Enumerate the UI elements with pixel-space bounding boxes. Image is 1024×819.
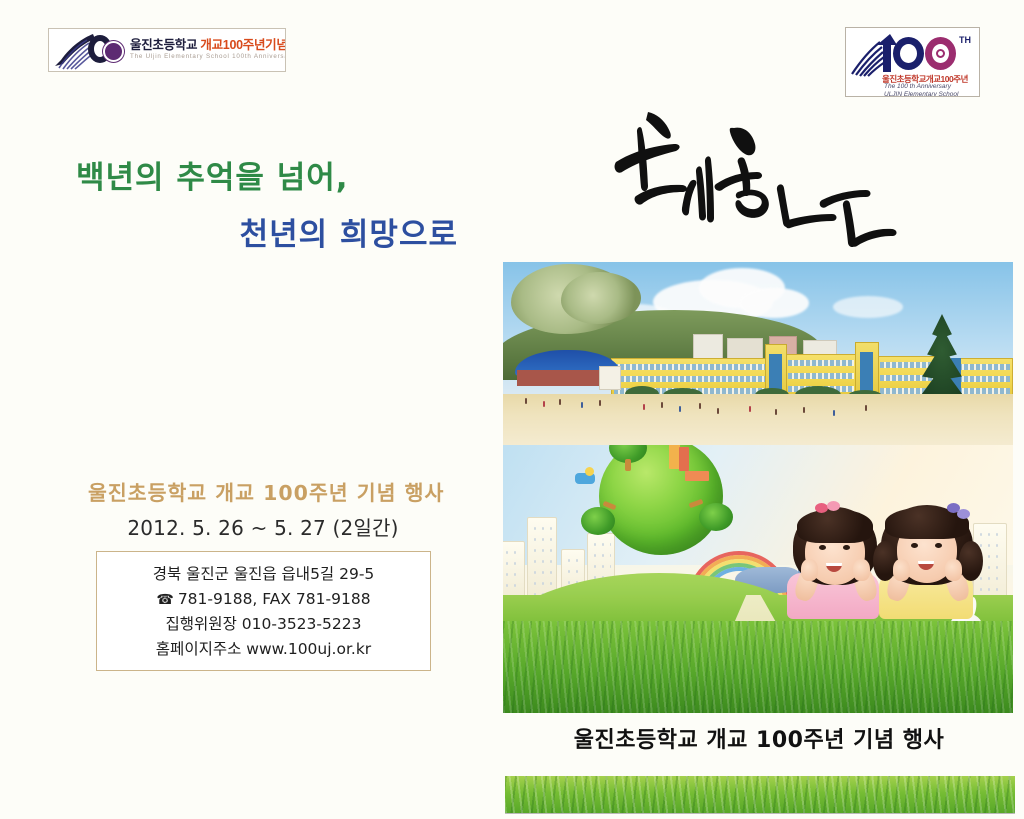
homepage-url[interactable]: www.100uj.or.kr xyxy=(246,640,371,658)
numeral-zero-first-icon xyxy=(893,37,924,70)
contact-address: 경북 울진군 울진읍 읍내5길 29-5 xyxy=(97,562,430,587)
slogan-line-2: 천년의 희망으로 xyxy=(76,209,476,254)
cover-imagery xyxy=(503,262,1013,713)
brochure-cover-page: 울진초등학교 개교100주년기념 The Uljin Elementary Sc… xyxy=(0,0,1024,819)
telephone-icon: ☎ xyxy=(156,592,172,608)
contact-phone-number: 781-9188, FAX 781-9188 xyxy=(178,590,371,608)
chairman-phone: 010-3523-5223 xyxy=(242,615,362,633)
school-campus-photo xyxy=(503,262,1013,445)
contact-phone-row: ☎ 781-9188, FAX 781-9188 xyxy=(97,587,430,612)
homepage-label: 홈페이지주소 xyxy=(156,640,242,658)
girl-right xyxy=(871,505,987,629)
school-emblem-icon xyxy=(103,41,124,62)
slogan-line-1: 백년의 추억을 넘어, xyxy=(76,152,476,197)
anniversary-logo-right: TH 울진초등학교개교100주년 The 100 th Anniversary … xyxy=(845,27,980,97)
numeral-zero-second-emblem-icon xyxy=(925,37,956,70)
slogan: 백년의 추억을 넘어, 천년의 희망으로 xyxy=(76,152,476,254)
event-heading: 울진초등학교 개교 100주년 기념 행사 xyxy=(88,476,438,506)
contact-chairman-row: 집행위원장 010-3523-5223 xyxy=(97,612,430,637)
bottom-caption: 울진초등학교 개교 100주년 기념 행사 xyxy=(503,722,1015,754)
calligraphy-invitation xyxy=(612,100,932,250)
logo-left-title: 울진초등학교 개교100주년기념 xyxy=(130,39,286,52)
logo-left-subtitle: The Uljin Elementary School 100th Annive… xyxy=(130,54,286,61)
children-meadow-illustration xyxy=(503,445,1013,713)
logo-right-superscript: TH xyxy=(959,35,971,45)
anniversary-logo-left: 울진초등학교 개교100주년기념 The Uljin Elementary Sc… xyxy=(48,28,286,72)
grass-decoration-strip xyxy=(505,776,1015,814)
contact-homepage-row: 홈페이지주소 www.100uj.or.kr xyxy=(97,637,430,662)
logo-right-subtitle-en: The 100 th Anniversary ULJIN Elementary … xyxy=(884,83,958,97)
contact-info-box: 경북 울진군 울진읍 읍내5길 29-5 ☎ 781-9188, FAX 781… xyxy=(96,551,431,671)
chairman-label: 집행위원장 xyxy=(166,615,237,633)
event-date: 2012. 5. 26 ~ 5. 27 (2일간) xyxy=(88,512,438,541)
